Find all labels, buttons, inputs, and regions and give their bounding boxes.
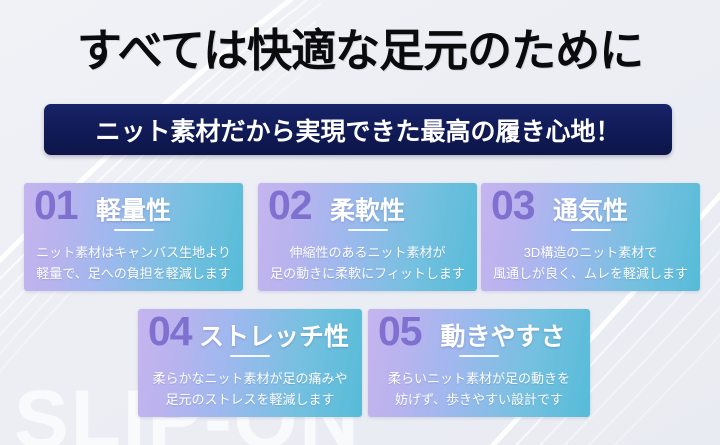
- feature-card-05-line-1: 柔らいニット素材が足の動きを: [376, 368, 582, 389]
- feature-card-03-line-1: 3D構造のニット素材で: [489, 242, 692, 263]
- feature-card-05: 05 動きやすさ 柔らいニット素材が足の動きを 妨げず、歩きやすい設計です: [368, 309, 590, 417]
- feature-card-04-head: 04 ストレッチ性: [138, 309, 362, 359]
- feature-card-05-title: 動きやすさ: [368, 317, 590, 353]
- feature-card-02-head: 02 柔軟性: [258, 183, 477, 233]
- feature-card-04-title: ストレッチ性: [138, 317, 362, 353]
- promo-graphic: SLIP-ON すべては快適な足元のために ニット素材だから実現できた最高の履き…: [0, 0, 720, 445]
- feature-card-02-body: 伸縮性のあるニット素材が 足の動きに柔軟にフィットします: [258, 242, 477, 291]
- feature-card-03-title: 通気性: [481, 191, 700, 227]
- feature-card-05-head: 05 動きやすさ: [368, 309, 590, 359]
- feature-card-01-title: 軽量性: [24, 191, 243, 227]
- feature-card-02-divider: [348, 229, 388, 231]
- feature-card-05-line-2: 妨げず、歩きやすい設計です: [376, 389, 582, 410]
- feature-card-02-title: 柔軟性: [258, 191, 477, 227]
- feature-card-03-body: 3D構造のニット素材で 風通しが良く、ムレを軽減します: [481, 242, 700, 291]
- feature-card-04-line-1: 柔らかなニット素材が足の痛みや: [146, 368, 354, 389]
- feature-card-01-body: ニット素材はキャンバス生地より 軽量で、足への負担を軽減します: [24, 242, 243, 291]
- feature-card-01-divider: [114, 229, 154, 231]
- feature-card-02-line-1: 伸縮性のあるニット素材が: [266, 242, 469, 263]
- feature-card-04-body: 柔らかなニット素材が足の痛みや 足元のストレスを軽減します: [138, 368, 362, 417]
- feature-card-01-head: 01 軽量性: [24, 183, 243, 233]
- subheadline-banner: ニット素材だから実現できた最高の履き心地！: [44, 104, 672, 155]
- feature-card-02: 02 柔軟性 伸縮性のあるニット素材が 足の動きに柔軟にフィットします: [258, 183, 477, 291]
- feature-card-01: 01 軽量性 ニット素材はキャンバス生地より 軽量で、足への負担を軽減します: [24, 183, 243, 291]
- feature-card-04-line-2: 足元のストレスを軽減します: [146, 389, 354, 410]
- feature-card-03: 03 通気性 3D構造のニット素材で 風通しが良く、ムレを軽減します: [481, 183, 700, 291]
- feature-card-03-head: 03 通気性: [481, 183, 700, 233]
- feature-card-03-line-2: 風通しが良く、ムレを軽減します: [489, 263, 692, 284]
- subheadline-banner-text: ニット素材だから実現できた最高の履き心地！: [95, 112, 620, 148]
- feature-card-01-line-1: ニット素材はキャンバス生地より: [32, 242, 235, 263]
- feature-card-02-line-2: 足の動きに柔軟にフィットします: [266, 263, 469, 284]
- page-headline: すべては快適な足元のために: [0, 27, 720, 76]
- feature-card-05-body: 柔らいニット素材が足の動きを 妨げず、歩きやすい設計です: [368, 368, 590, 417]
- feature-card-04-divider: [230, 355, 270, 357]
- feature-card-03-divider: [571, 229, 611, 231]
- feature-card-05-divider: [459, 355, 499, 357]
- feature-card-04: 04 ストレッチ性 柔らかなニット素材が足の痛みや 足元のストレスを軽減します: [138, 309, 362, 417]
- feature-card-01-line-2: 軽量で、足への負担を軽減します: [32, 263, 235, 284]
